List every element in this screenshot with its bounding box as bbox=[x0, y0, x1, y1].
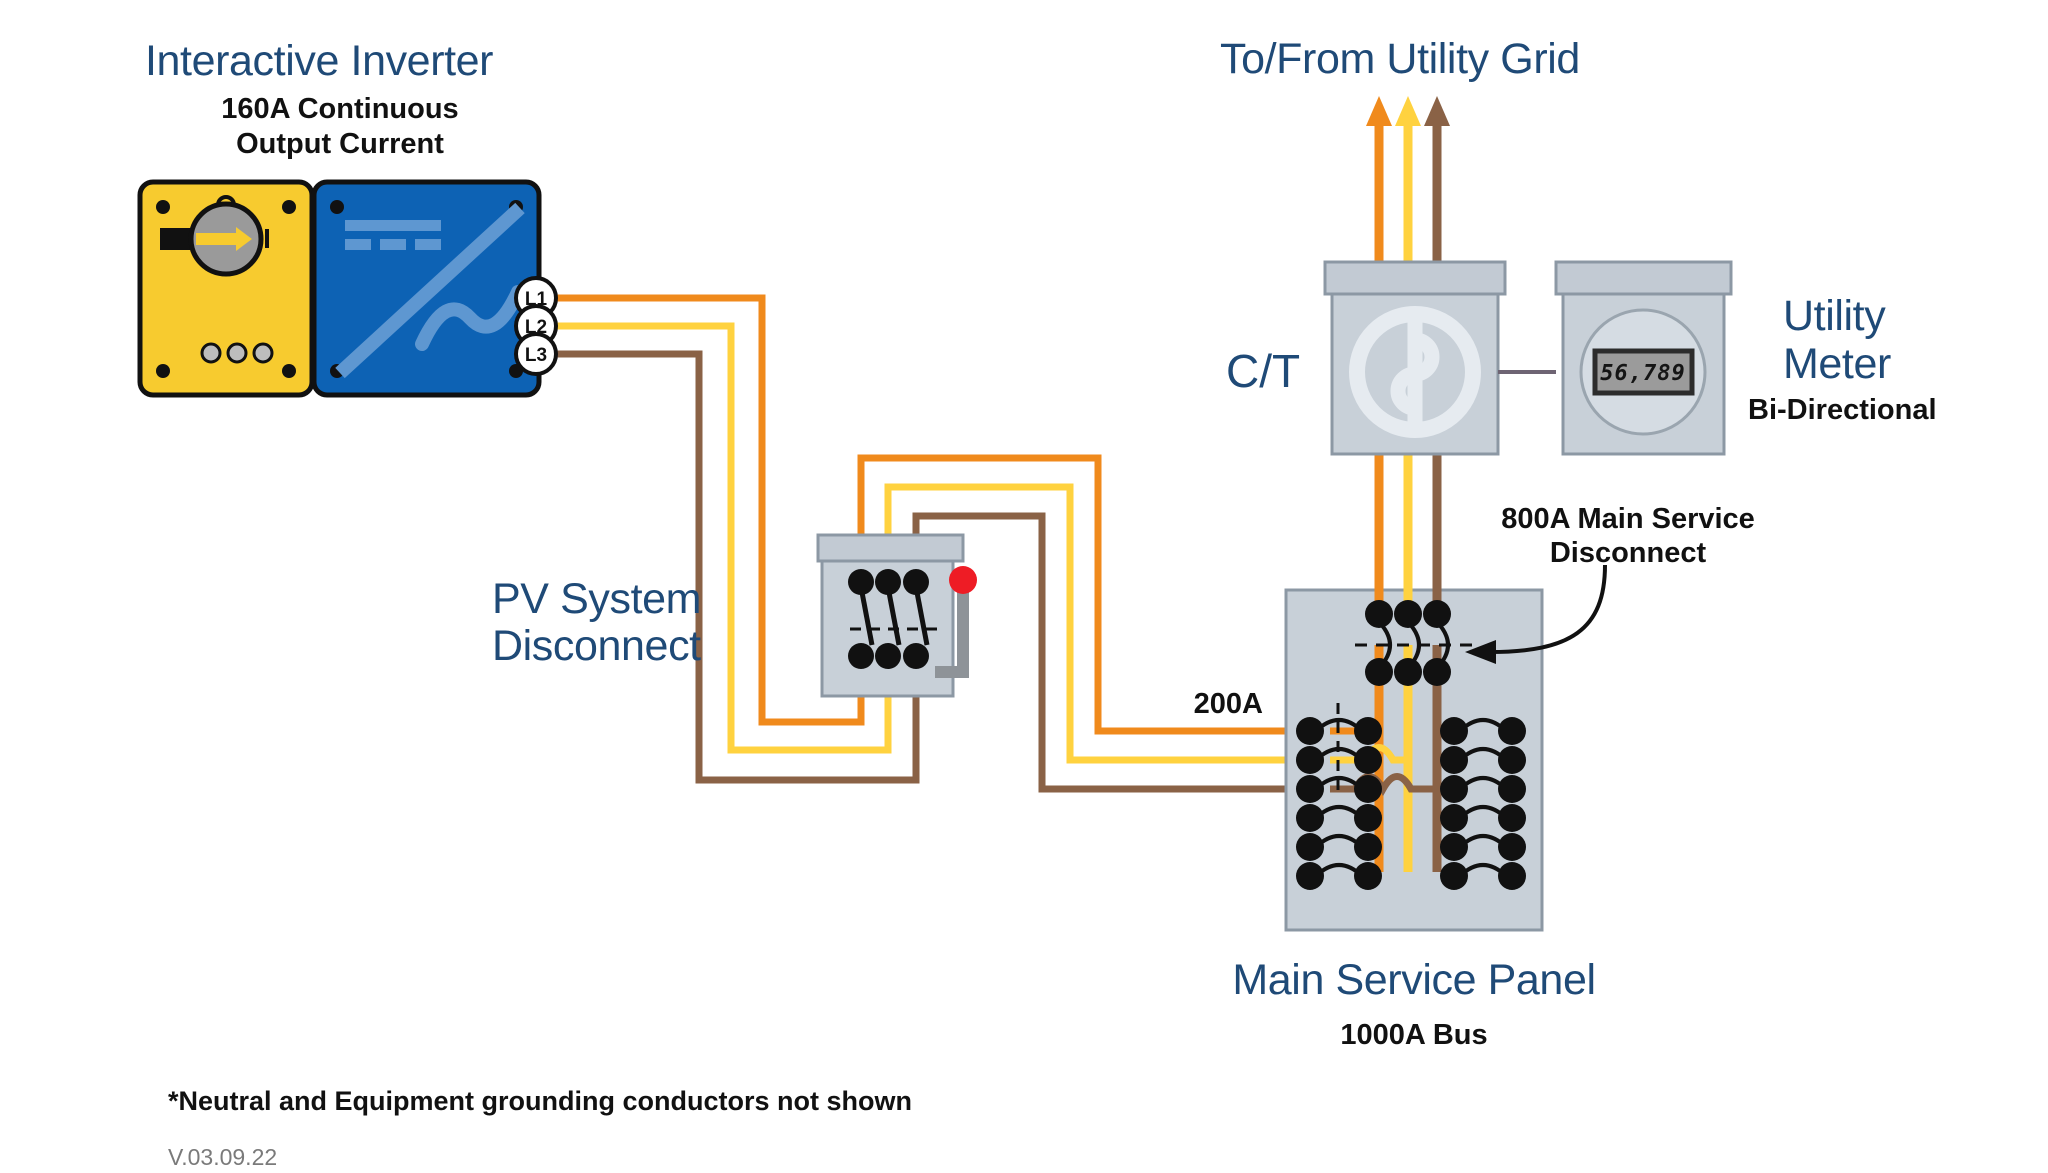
pv-disconnect-terminal bbox=[875, 643, 901, 669]
pv-disconnect-title-line1: PV System bbox=[492, 575, 701, 623]
arrow-l1-icon bbox=[1366, 96, 1392, 126]
breaker-terminal-left bbox=[1296, 833, 1324, 861]
meter-title-line1: Utility bbox=[1783, 292, 1886, 340]
breaker-terminal-right bbox=[1440, 746, 1468, 774]
breaker-terminal-right bbox=[1498, 804, 1526, 832]
arrow-l2-icon bbox=[1395, 96, 1421, 126]
inverter-title: Interactive Inverter bbox=[145, 37, 493, 85]
main-breaker-terminal bbox=[1365, 600, 1393, 628]
meter-reading: 56,789 bbox=[1600, 361, 1685, 386]
one-line-diagram: L1 L2 L3 Interactive Inverter 160A Conti… bbox=[0, 0, 2048, 1173]
main-breaker-terminal bbox=[1394, 658, 1422, 686]
arrow-l3-icon bbox=[1424, 96, 1450, 126]
inverter-screw-icon bbox=[330, 200, 344, 214]
current-transformer-enclosure[interactable] bbox=[1325, 262, 1556, 454]
meter-cap bbox=[1556, 262, 1731, 294]
terminal-l1-label: L1 bbox=[525, 289, 548, 310]
breaker-terminal-right bbox=[1498, 833, 1526, 861]
pv-disconnect-handle-knob-icon[interactable] bbox=[949, 566, 977, 594]
footnote: *Neutral and Equipment grounding conduct… bbox=[168, 1086, 912, 1116]
breaker-terminal-right bbox=[1440, 717, 1468, 745]
main-breaker-terminal bbox=[1423, 658, 1451, 686]
pv-breaker-rating-label: 200A bbox=[1194, 688, 1263, 720]
pv-disconnect-cap bbox=[818, 535, 963, 561]
main-breaker-terminal bbox=[1394, 600, 1422, 628]
ac-disconnect-screw-icon bbox=[156, 364, 170, 378]
inverter-rating-line1: 160A Continuous bbox=[221, 93, 458, 125]
ac-disconnect-screw-icon bbox=[282, 364, 296, 378]
terminal-l2-label: L2 bbox=[525, 317, 547, 338]
wire-l3-disconnect-to-panel bbox=[916, 516, 1330, 789]
breaker-terminal-left bbox=[1354, 833, 1382, 861]
breaker-terminal-right bbox=[1498, 862, 1526, 890]
breaker-terminal-left bbox=[1296, 862, 1324, 890]
inverter-dc-dash-icon bbox=[380, 239, 406, 250]
breaker-terminal-right bbox=[1440, 804, 1468, 832]
pv-disconnect-terminal bbox=[903, 643, 929, 669]
breaker-terminal-left bbox=[1296, 804, 1324, 832]
breaker-terminal-left bbox=[1354, 862, 1382, 890]
ac-disconnect-screw-icon bbox=[156, 200, 170, 214]
breaker-terminal-right bbox=[1498, 775, 1526, 803]
ac-disconnect-on-marker-icon bbox=[265, 229, 269, 248]
breaker-terminal-left bbox=[1296, 717, 1324, 745]
meter-title-line2: Meter bbox=[1783, 340, 1891, 388]
breaker-terminal-left bbox=[1354, 717, 1382, 745]
ac-disconnect-led-icon bbox=[202, 344, 220, 362]
breaker-terminal-right bbox=[1440, 862, 1468, 890]
diagram-canvas: L1 L2 L3 Interactive Inverter 160A Conti… bbox=[0, 0, 2048, 1173]
grid-arrowheads bbox=[1366, 96, 1450, 126]
inverter-dc-solid-bar-icon bbox=[345, 220, 441, 231]
interactive-inverter[interactable]: L1 L2 L3 bbox=[140, 182, 556, 395]
breaker-terminal-left bbox=[1354, 775, 1382, 803]
pv-disconnect-terminal bbox=[848, 569, 874, 595]
pv-disconnect-title-line2: Disconnect bbox=[492, 622, 701, 670]
panel-title: Main Service Panel bbox=[1232, 956, 1595, 1004]
terminal-l3-label: L3 bbox=[525, 345, 547, 366]
version-label: V.03.09.22 bbox=[168, 1144, 277, 1170]
breaker-terminal-left bbox=[1354, 746, 1382, 774]
breaker-terminal-left bbox=[1296, 746, 1324, 774]
breaker-terminal-right bbox=[1440, 833, 1468, 861]
inverter-dc-dash-icon bbox=[415, 239, 441, 250]
ac-disconnect-led-icon bbox=[254, 344, 272, 362]
breaker-terminal-left bbox=[1296, 775, 1324, 803]
inverter-rating-line2: Output Current bbox=[236, 128, 444, 160]
breaker-terminal-right bbox=[1498, 746, 1526, 774]
breaker-terminal-right bbox=[1498, 717, 1526, 745]
ac-disconnect-led-icon bbox=[228, 344, 246, 362]
pv-system-disconnect[interactable] bbox=[818, 535, 977, 696]
main-disconnect-callout-line1: 800A Main Service bbox=[1501, 503, 1755, 535]
breaker-terminal-right bbox=[1440, 775, 1468, 803]
ct-label: C/T bbox=[1226, 345, 1300, 397]
inverter-dc-dash-icon bbox=[345, 239, 371, 250]
ac-disconnect-screw-icon bbox=[282, 200, 296, 214]
breaker-terminal-left bbox=[1354, 804, 1382, 832]
pv-disconnect-terminal bbox=[903, 569, 929, 595]
utility-meter[interactable] bbox=[1556, 262, 1731, 454]
panel-bus-rating: 1000A Bus bbox=[1340, 1019, 1487, 1051]
main-breaker-terminal bbox=[1365, 658, 1393, 686]
ct-cap bbox=[1325, 262, 1505, 294]
pv-disconnect-terminal bbox=[848, 643, 874, 669]
main-disconnect-callout-line2: Disconnect bbox=[1550, 537, 1707, 569]
pv-disconnect-terminal bbox=[875, 569, 901, 595]
main-breaker-terminal bbox=[1423, 600, 1451, 628]
grid-title: To/From Utility Grid bbox=[1220, 35, 1580, 83]
meter-subtitle: Bi-Directional bbox=[1748, 394, 1937, 426]
